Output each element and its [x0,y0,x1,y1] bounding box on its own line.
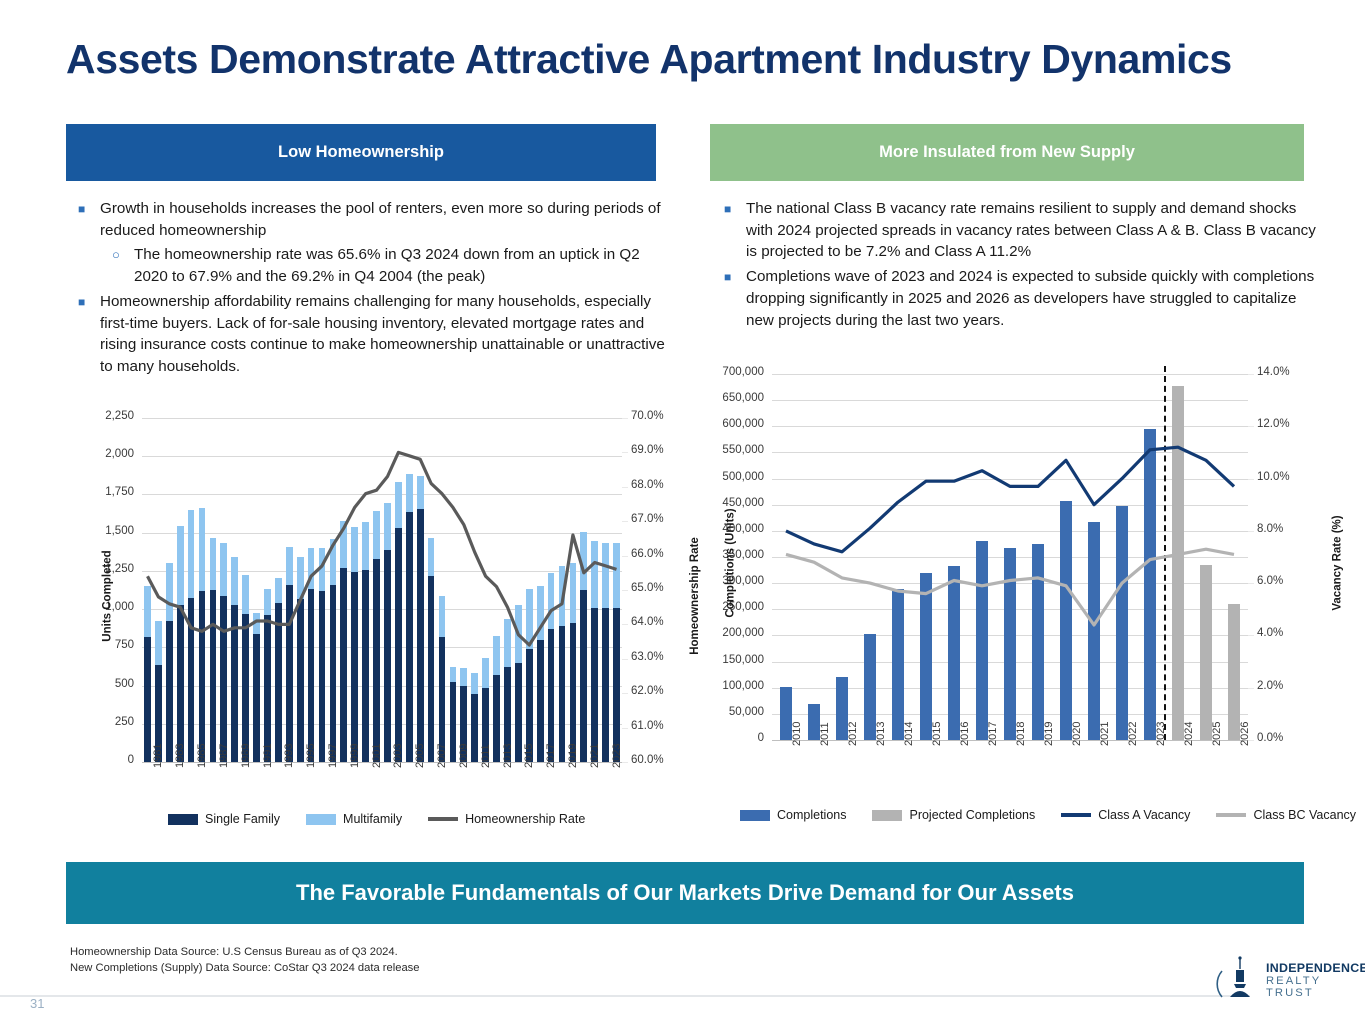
x-axis-tick-2011: 2011 [480,744,492,768]
legend-item-class-a-vacancy[interactable]: Class A Vacancy [1061,808,1190,822]
homeownership-chart: 02505007501,0001,2501,5001,7502,0002,250… [80,400,680,850]
bar-single-family-1990 [242,614,249,762]
logo-wordmark: INDEPENDENCE REALTY TRUST [1266,961,1365,999]
chart-legend: CompletionsProjected CompletionsClass A … [740,808,1365,822]
y2-tick-mark [622,452,628,453]
bullet-text: The homeownership rate was 65.6% in Q3 2… [134,244,665,287]
x-axis-tick-2001: 2001 [371,744,383,768]
x-axis-tick-2026: 2026 [1239,722,1251,746]
x-axis-tick-1989: 1989 [240,744,252,768]
x-axis-tick-2009: 2009 [458,744,470,768]
bar-multifamily-1996 [308,548,315,589]
legend-swatch [740,810,770,821]
bar-single-family-2002 [373,559,380,762]
x-axis-tick-1981: 1981 [152,744,164,768]
bar-single-family-2007 [428,576,435,762]
bullet-square-icon: ■ [716,266,746,331]
bar-multifamily-2012 [482,658,489,688]
gridline [142,456,622,457]
bullet-item-sub: ○ The homeownership rate was 65.6% in Q3… [70,244,665,287]
y2-tick-mark [622,659,628,660]
x-axis-tick-2025: 2025 [1211,722,1223,746]
bar-multifamily-1983 [166,563,173,621]
slide: Assets Demonstrate Attractive Apartment … [0,0,1365,1027]
bar-single-family-1991 [253,634,260,762]
legend-label: Projected Completions [909,808,1035,822]
bar-multifamily-1993 [275,578,282,603]
bullet-item: ■ The national Class B vacancy rate rema… [716,198,1316,263]
y2-axis-tick: 0.0% [1257,732,1283,744]
bar-multifamily-1986 [199,508,206,591]
x-axis-tick-1999: 1999 [349,744,361,768]
bullet-circle-icon: ○ [104,244,134,287]
y2-tick-mark [622,487,628,488]
bar-multifamily-1987 [210,538,217,591]
bullet-item: ■ Homeownership affordability remains ch… [70,291,665,378]
bar-multifamily-2007 [428,538,435,576]
legend-swatch [306,814,336,825]
bar-multifamily-2006 [417,476,424,509]
bar-multifamily-2011 [471,673,478,694]
bar-multifamily-2024 [613,543,620,607]
gridline [142,494,622,495]
bullet-square-icon: ■ [70,198,100,241]
bar-single-family-2015 [515,663,522,762]
bar-multifamily-2009 [450,667,457,683]
x-axis-tick-2021: 2021 [589,744,601,768]
bar-completions-2014 [892,589,904,740]
x-axis-tick-2010: 2010 [791,722,803,746]
legend-label: Homeownership Rate [465,812,585,826]
x-axis-tick-2014: 2014 [903,722,915,746]
legend-item-single-family[interactable]: Single Family [168,812,280,826]
y2-tick-mark [622,556,628,557]
bullet-text: Homeownership affordability remains chal… [100,291,665,378]
y2-axis-tick: 70.0% [631,410,664,422]
bar-projected-completions-2025 [1200,565,1212,740]
bar-single-family-2013 [493,675,500,762]
bar-single-family-1997 [319,591,326,762]
logo-name: INDEPENDENCE [1266,961,1365,975]
gridline [772,374,1248,375]
y2-axis-tick: 62.0% [631,685,664,697]
chart-legend: Single FamilyMultifamilyHomeownership Ra… [168,812,611,826]
y-axis-tick: 1,750 [80,486,134,498]
bar-single-family-1993 [275,603,282,762]
bar-multifamily-1990 [242,575,249,615]
y-axis-tick: 700,000 [700,366,764,378]
bar-completions-2021 [1088,522,1100,740]
y2-tick-mark [622,521,628,522]
bar-multifamily-2017 [537,586,544,640]
x-axis-tick-2015: 2015 [931,722,943,746]
y2-axis-tick: 8.0% [1257,523,1283,535]
bullet-square-icon: ■ [716,198,746,263]
x-axis-tick-2021: 2021 [1099,722,1111,746]
panel-header-low-homeownership: Low Homeownership [66,124,656,181]
y-axis-tick: 0 [700,732,764,744]
x-axis-tick-2016: 2016 [959,722,971,746]
supply-chart: 050,000100,000150,000200,000250,000300,0… [700,360,1320,840]
bar-projected-completions-2024 [1172,386,1184,740]
x-axis-tick-2012: 2012 [847,722,859,746]
y2-tick-mark [1248,374,1254,375]
legend-item-completions[interactable]: Completions [740,808,846,822]
bar-single-family-2011 [471,694,478,762]
y2-tick-mark [1248,688,1254,689]
x-axis-tick-2013: 2013 [502,744,514,768]
bar-multifamily-1989 [231,557,238,606]
y2-axis-tick: 64.0% [631,616,664,628]
x-axis-tick-2020: 2020 [1071,722,1083,746]
lighthouse-icon [1216,955,1264,1005]
bar-single-family-2004 [395,528,402,762]
bar-completions-2022 [1116,506,1128,740]
bar-multifamily-2004 [395,482,402,528]
x-axis-tick-1993: 1993 [283,744,295,768]
bar-single-family-1983 [166,621,173,762]
x-axis-tick-2017: 2017 [987,722,999,746]
y2-axis-tick: 60.0% [631,754,664,766]
y2-axis-tick: 61.0% [631,720,664,732]
bar-single-family-2005 [406,512,413,762]
y-axis-tick: 50,000 [700,706,764,718]
bar-multifamily-2000 [351,527,358,572]
y-axis-title: Units Completed [102,550,114,641]
line-class-a-vacancy [786,447,1234,552]
bullet-item: ■ Growth in households increases the poo… [70,198,665,241]
y-axis-tick: 450,000 [700,497,764,509]
bar-multifamily-2023 [602,543,609,609]
x-axis-tick-2019: 2019 [1043,722,1055,746]
bar-single-family-2018 [548,629,555,762]
takeaway-banner: The Favorable Fundamentals of Our Market… [66,862,1304,924]
bar-completions-2018 [1004,548,1016,740]
bullet-text: Growth in households increases the pool … [100,198,665,241]
legend-label: Completions [777,808,846,822]
legend-label: Class BC Vacancy [1253,808,1356,822]
y2-axis-tick: 12.0% [1257,418,1290,430]
legend-swatch [1061,813,1091,817]
bar-completions-2019 [1032,544,1044,740]
y-axis-tick: 2,250 [80,410,134,422]
bar-multifamily-2001 [362,522,369,570]
y2-tick-mark [1248,479,1254,480]
bar-single-family-1995 [297,599,304,762]
x-axis-tick-2024: 2024 [1183,722,1195,746]
y2-axis-tick: 65.0% [631,582,664,594]
footer-divider [0,995,1250,997]
legend-item-class-bc-vacancy[interactable]: Class BC Vacancy [1216,808,1356,822]
y2-tick-mark [1248,426,1254,427]
bar-single-family-1992 [264,615,271,762]
x-axis-tick-1983: 1983 [174,744,186,768]
bar-multifamily-1998 [330,539,337,585]
y2-tick-mark [622,693,628,694]
bar-multifamily-2022 [591,541,598,608]
y2-axis-tick: 6.0% [1257,575,1283,587]
bar-projected-completions-2026 [1228,604,1240,740]
bar-multifamily-1994 [286,547,293,584]
bar-multifamily-2018 [548,573,555,628]
y2-tick-mark [1248,583,1254,584]
bar-multifamily-2003 [384,503,391,550]
x-axis-tick-1997: 1997 [327,744,339,768]
bar-single-family-2024 [613,608,620,762]
bar-multifamily-2016 [526,589,533,649]
x-axis-tick-2013: 2013 [875,722,887,746]
y-axis-tick: 500 [80,678,134,690]
page-number: 31 [30,996,44,1011]
bar-single-family-1985 [188,598,195,762]
y-axis-tick: 100,000 [700,680,764,692]
legend-label: Single Family [205,812,280,826]
x-axis-tick-1985: 1985 [196,744,208,768]
legend-swatch [168,814,198,825]
page-title: Assets Demonstrate Attractive Apartment … [66,36,1232,83]
bullet-item: ■ Completions wave of 2023 and 2024 is e… [716,266,1316,331]
bar-multifamily-1984 [177,526,184,605]
bar-multifamily-2021 [580,532,587,591]
y2-axis-tick: 2.0% [1257,680,1283,692]
gridline [142,418,622,419]
bar-completions-2016 [948,566,960,740]
y2-axis-tick: 69.0% [631,444,664,456]
bar-multifamily-1997 [319,548,326,592]
y2-axis-tick: 68.0% [631,479,664,491]
x-axis-tick-1991: 1991 [262,744,274,768]
y2-tick-mark [622,418,628,419]
bullet-square-icon: ■ [70,291,100,378]
bar-single-family-1998 [330,585,337,762]
bar-multifamily-2005 [406,474,413,512]
bar-single-family-1996 [308,589,315,762]
bar-multifamily-1991 [253,613,260,634]
y-axis-tick: 250 [80,716,134,728]
x-axis-tick-2017: 2017 [545,744,557,768]
y-axis-tick: 500,000 [700,471,764,483]
bar-single-family-1984 [177,605,184,762]
y2-axis-tick: 10.0% [1257,471,1290,483]
x-axis-tick-2003: 2003 [392,744,404,768]
bar-multifamily-2002 [373,511,380,559]
bar-completions-2023 [1144,429,1156,740]
bar-single-family-2006 [417,509,424,762]
x-axis-tick-2007: 2007 [436,744,448,768]
bar-multifamily-1995 [297,557,304,600]
panel-header-more-insulated: More Insulated from New Supply [710,124,1304,181]
bullet-text: The national Class B vacancy rate remain… [746,198,1316,263]
y2-tick-mark [622,590,628,591]
bar-completions-2020 [1060,501,1072,740]
bar-single-family-2009 [450,682,457,762]
bar-multifamily-2014 [504,619,511,668]
bar-multifamily-2020 [570,563,577,622]
bar-single-family-2000 [351,572,358,762]
source-notes: Homeownership Data Source: U.S Census Bu… [70,944,419,976]
y2-tick-mark [1248,531,1254,532]
bar-single-family-1981 [144,637,151,762]
bar-completions-2017 [976,541,988,740]
y-axis-tick: 200,000 [700,627,764,639]
x-axis-tick-2022: 2022 [1127,722,1139,746]
gridline [142,533,622,534]
bar-single-family-1988 [220,596,227,762]
line-homeownership-rate [148,452,617,645]
x-axis-tick-2018: 2018 [1015,722,1027,746]
bar-single-family-1987 [210,590,217,762]
legend-label: Multifamily [343,812,402,826]
legend-swatch [1216,813,1246,817]
bar-single-family-2021 [580,590,587,762]
y-axis-tick: 2,000 [80,448,134,460]
company-logo: INDEPENDENCE REALTY TRUST [1216,955,1356,1007]
y2-axis-title: Homeownership Rate [689,537,701,655]
bar-multifamily-1999 [340,521,347,568]
logo-subtitle: REALTY TRUST [1266,975,1365,999]
bar-single-family-2023 [602,608,609,762]
bar-multifamily-1985 [188,510,195,598]
bar-single-family-2017 [537,640,544,762]
x-axis-tick-2011: 2011 [819,722,831,746]
bullet-list-right: ■ The national Class B vacancy rate rema… [716,198,1316,334]
bar-single-family-2020 [570,623,577,762]
bar-multifamily-1981 [144,586,151,637]
y-axis-tick: 150,000 [700,654,764,666]
bar-multifamily-2019 [559,566,566,626]
y2-axis-title: Vacancy Rate (%) [1332,515,1344,610]
bar-single-family-2019 [559,626,566,762]
legend-swatch [428,817,458,821]
x-axis-tick-2015: 2015 [523,744,535,768]
x-axis-line [772,740,1248,741]
bar-single-family-2001 [362,570,369,762]
source-line-1: Homeownership Data Source: U.S Census Bu… [70,944,419,960]
legend-swatch [872,810,902,821]
bar-single-family-2022 [591,608,598,762]
legend-item-homeownership-rate[interactable]: Homeownership Rate [428,812,585,826]
bar-completions-2015 [920,573,932,740]
bar-multifamily-2010 [460,668,467,686]
legend-item-projected-completions[interactable]: Projected Completions [872,808,1035,822]
y2-tick-mark [1248,635,1254,636]
panel-header-left-label: Low Homeownership [278,143,444,162]
bar-multifamily-2015 [515,605,522,664]
x-axis-tick-2019: 2019 [567,744,579,768]
x-axis-tick-2023: 2023 [1155,722,1167,746]
forecast-divider [1164,366,1166,740]
bar-multifamily-1992 [264,589,271,615]
y-axis-tick: 650,000 [700,392,764,404]
y-axis-tick: 0 [80,754,134,766]
panel-header-right-label: More Insulated from New Supply [879,143,1135,162]
y2-axis-tick: 67.0% [631,513,664,525]
y2-tick-mark [622,624,628,625]
bar-single-family-1986 [199,591,206,762]
bar-single-family-1994 [286,585,293,762]
x-axis-tick-1987: 1987 [218,744,230,768]
bar-single-family-2003 [384,550,391,762]
x-axis-tick-1995: 1995 [305,744,317,768]
source-line-2: New Completions (Supply) Data Source: Co… [70,960,419,976]
y-axis-tick: 550,000 [700,444,764,456]
bar-single-family-1999 [340,568,347,762]
bar-single-family-1989 [231,605,238,762]
y2-tick-mark [622,728,628,729]
y-axis-tick: 1,500 [80,525,134,537]
y-axis-title: Completions (Units) [725,508,737,617]
y2-axis-tick: 4.0% [1257,627,1283,639]
x-axis-tick-2023: 2023 [611,744,623,768]
bar-multifamily-1982 [155,621,162,665]
y2-axis-tick: 14.0% [1257,366,1290,378]
x-axis-tick-2005: 2005 [414,744,426,768]
bullet-list-left: ■ Growth in households increases the poo… [70,198,665,381]
bullet-text: Completions wave of 2023 and 2024 is exp… [746,266,1316,331]
legend-item-multifamily[interactable]: Multifamily [306,812,402,826]
legend-label: Class A Vacancy [1098,808,1190,822]
y2-axis-tick: 63.0% [631,651,664,663]
bar-multifamily-1988 [220,543,227,596]
y-axis-tick: 600,000 [700,418,764,430]
bar-multifamily-2013 [493,636,500,675]
y2-axis-tick: 66.0% [631,548,664,560]
banner-label: The Favorable Fundamentals of Our Market… [296,880,1074,906]
bar-multifamily-2008 [439,596,446,636]
